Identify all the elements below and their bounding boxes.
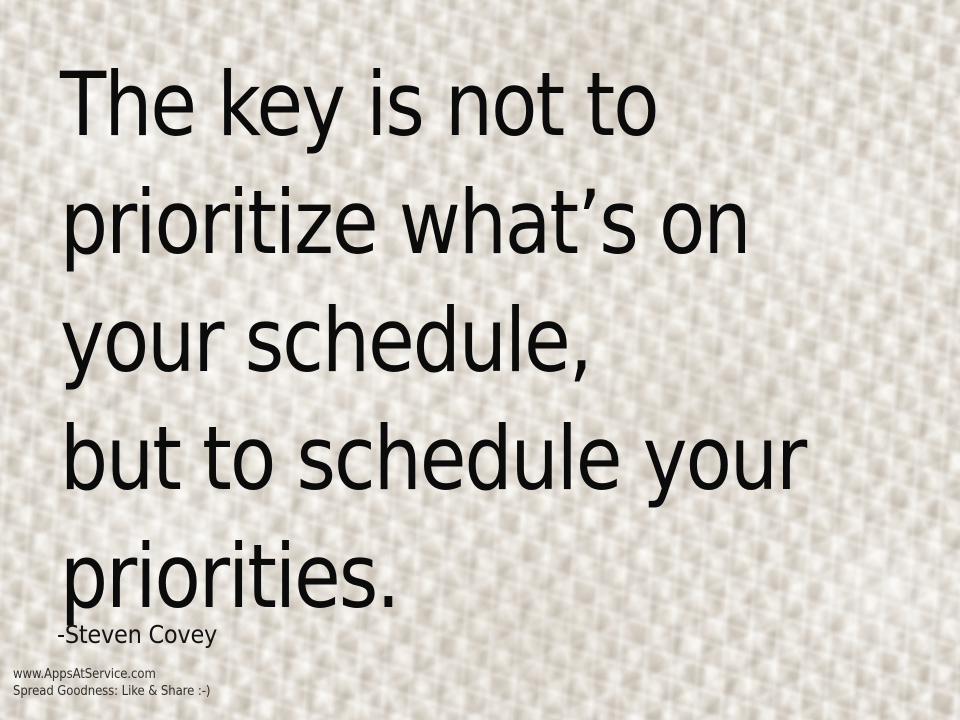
quote-line-4: but to schedule your	[60, 400, 808, 518]
quote-line-5: priorities.	[60, 518, 808, 636]
quote-line-2: prioritize what’s on	[60, 164, 808, 282]
footer-credit: www.AppsAtService.com Spread Goodness: L…	[13, 666, 210, 700]
quote-slide: The key is not to prioritize what’s on y…	[0, 0, 960, 720]
footer-tagline-text: Spread Goodness: Like & Share :-)	[13, 683, 210, 700]
footer-website-text: www.AppsAtService.com	[13, 666, 210, 683]
quote-line-1: The key is not to	[60, 46, 808, 164]
quote-text-block: The key is not to prioritize what’s on y…	[60, 46, 930, 636]
quote-line-3: your schedule,	[60, 282, 808, 400]
quote-attribution: -Steven Covey	[57, 620, 217, 650]
